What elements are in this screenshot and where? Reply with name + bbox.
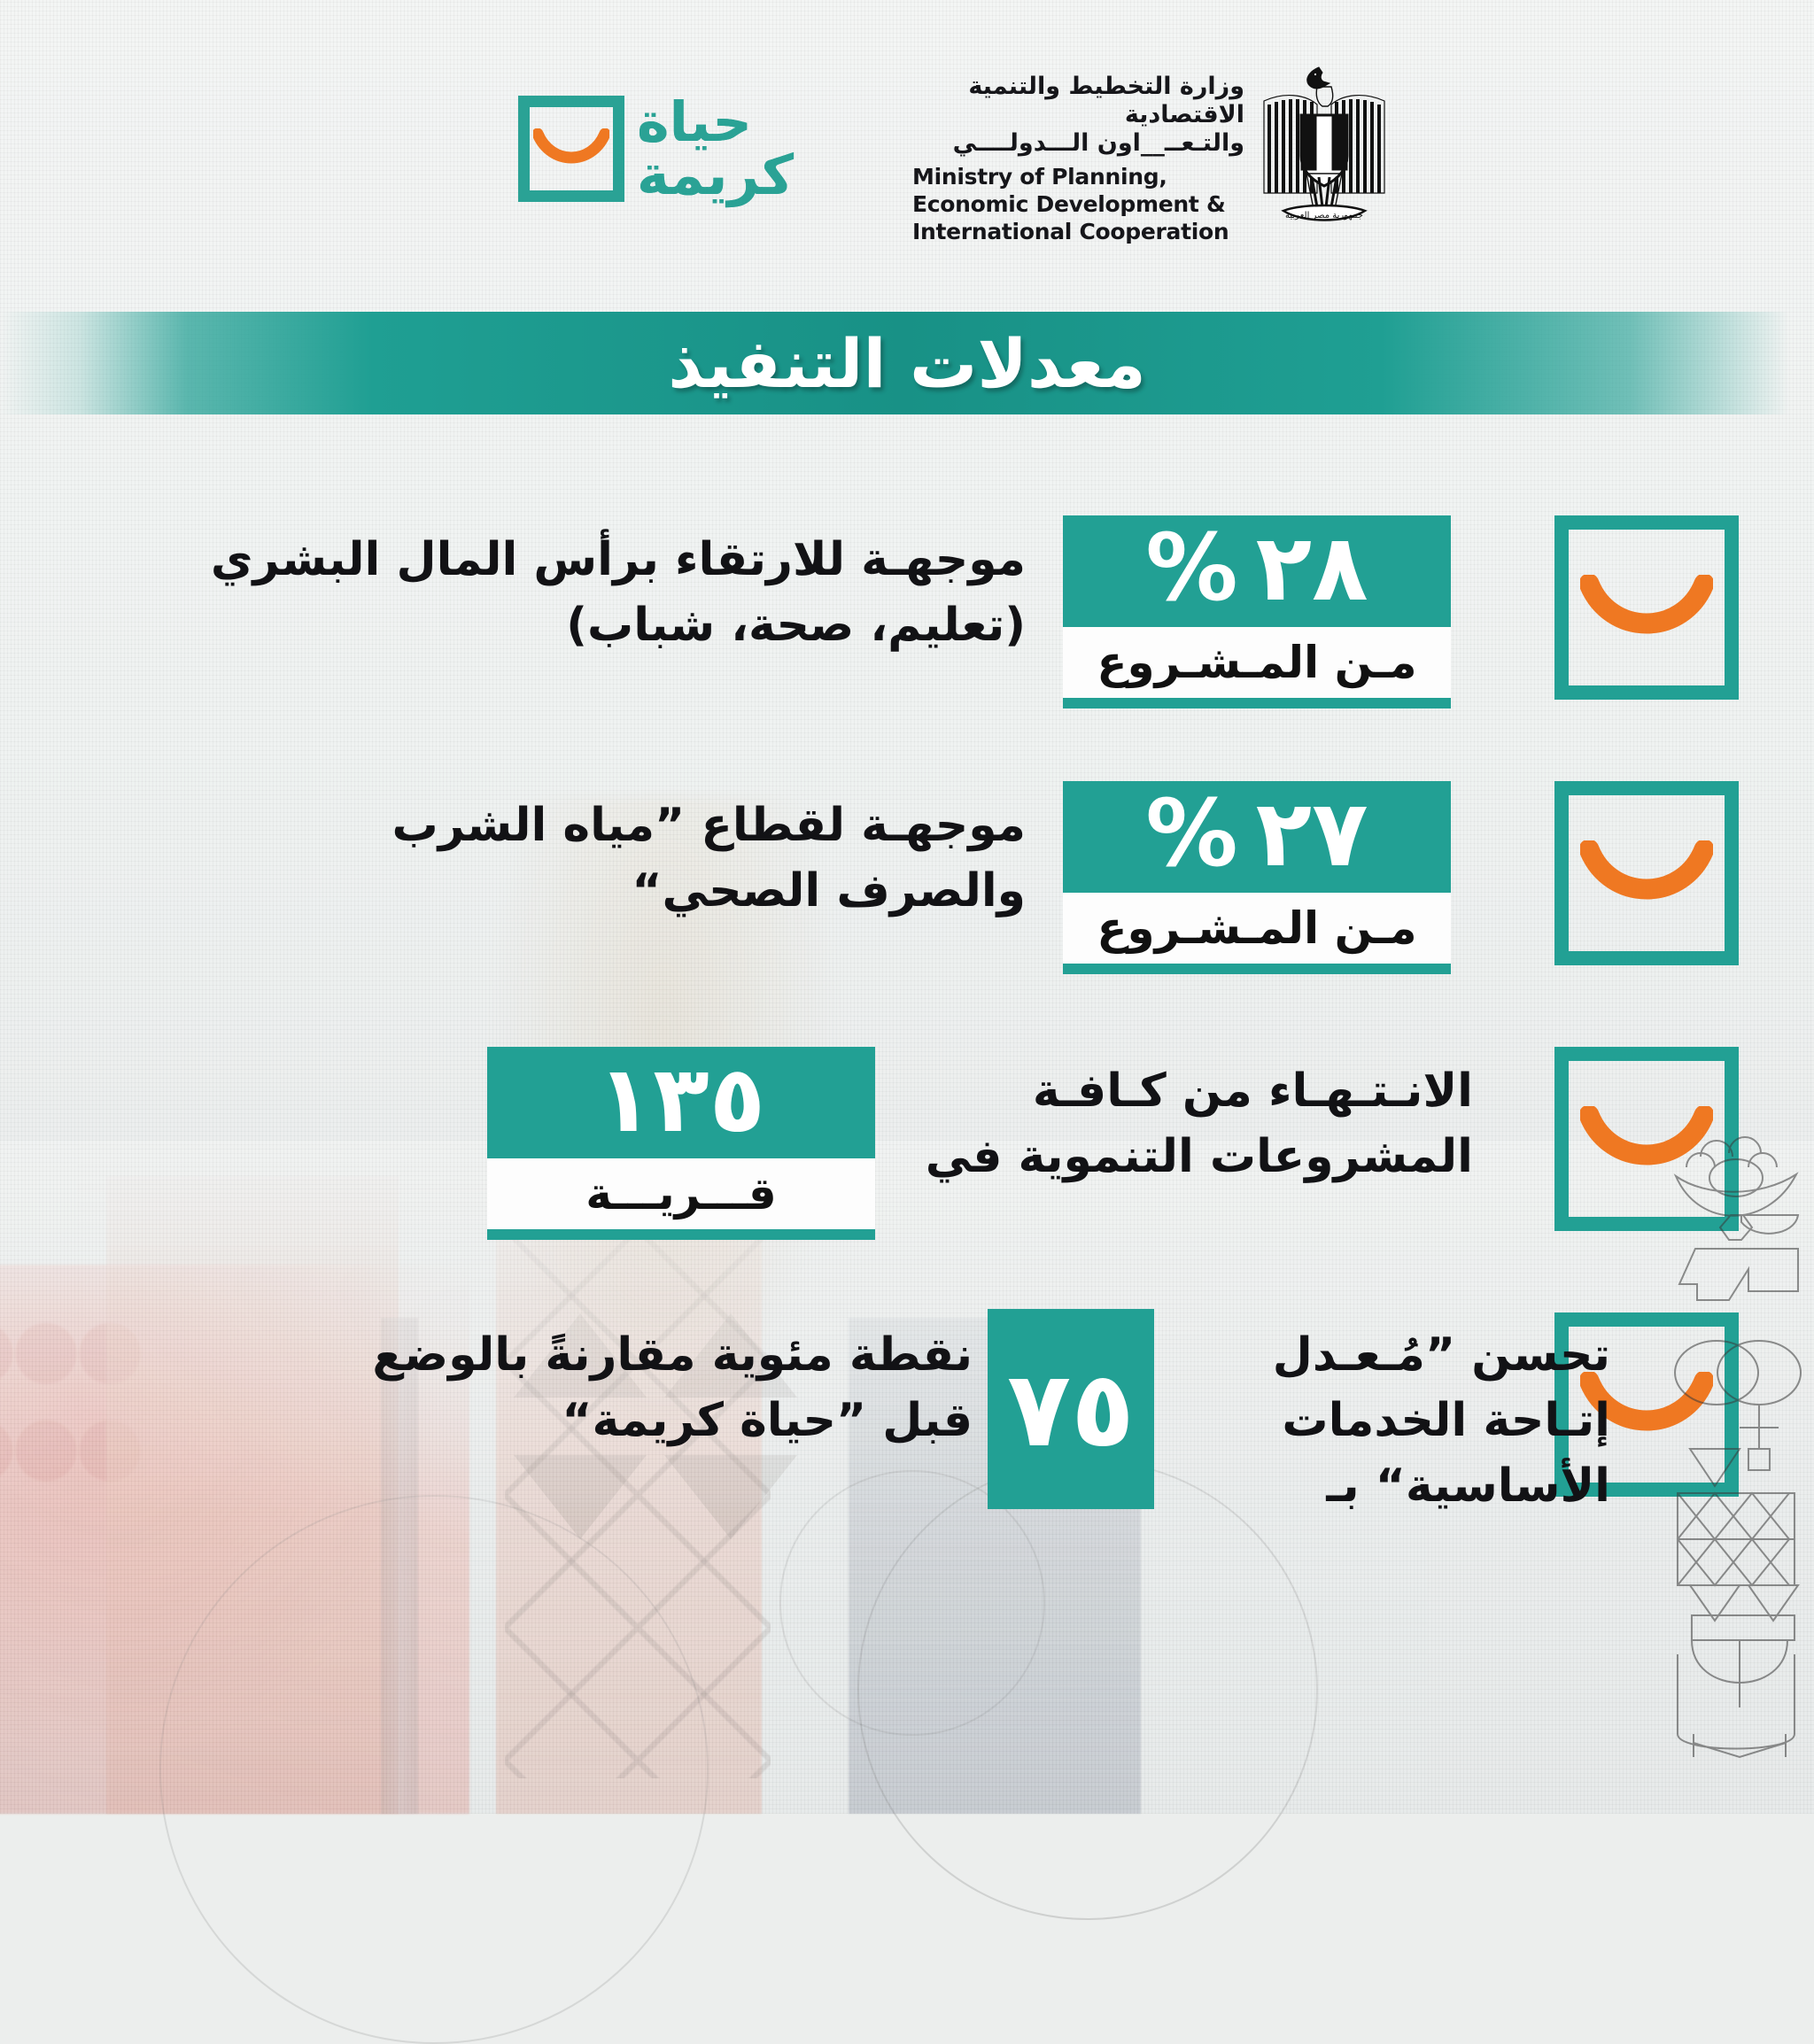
ministry-english-name: Ministry of Planning, Economic Developme… [912,163,1244,246]
smile-square-icon [1554,515,1739,700]
stat-description-right: تحسن ”مُـعـدل إتـاحة الخدمات الأساسية“ ب… [1150,1323,1610,1519]
smile-square-icon [1554,781,1739,965]
stat-description-left: نقطة مئوية مقارنةً بالوضع قبل ”حياة كريم… [361,1323,973,1454]
stat-row: ٧٥ تحسن ”مُـعـدل إتـاحة الخدمات الأساسية… [0,1293,1814,1559]
stat-badge-label: مـن المـشـروع [1063,627,1451,698]
stat-unit: % [1145,787,1239,879]
ministry-name-block: وزارة التخطيط والتنمية الاقتصادية والتـع… [912,73,1244,245]
stat-badge-value-area: ٢٧ % [1063,781,1451,893]
logo-line-2: كريمة [637,149,794,202]
eagle-of-saladin-emblem: جمهورية مصر العربية [1253,60,1395,233]
stat-badge-value-area: ١٣٥ [487,1047,875,1158]
stat-row: ٢٨ % مـن المـشـروع موجهـة للارتقاء برأس … [0,496,1814,762]
page-title: معدلات التنفيذ [668,324,1146,403]
stat-badge: ٢٨ % مـن المـشـروع [1063,515,1451,708]
stat-description: موجهـة لقطاع ”مياه الشرب والصرف الصحي“ [229,794,1026,925]
stat-value: ٧٥ [1007,1357,1135,1461]
logo-line-1: حياة [637,96,752,149]
stat-unit: % [1145,522,1239,614]
stat-value: ٢٧ [1256,787,1368,879]
page-title-banner: معدلات التنفيذ [0,312,1814,414]
emblem-scroll-text: جمهورية مصر العربية [1285,211,1363,221]
stat-badge-value-area: ٢٨ % [1063,515,1451,627]
stat-description: موجهـة للارتقاء برأس المال البشري (تعليم… [131,528,1026,659]
stat-badge-label: مـن المـشـروع [1063,893,1451,964]
stat-badge: ٢٧ % مـن المـشـروع [1063,781,1451,974]
stat-row: ١٣٥ قـــريـــة الانـتـهـاء من كـافـة الم… [0,1027,1814,1293]
stat-row: ٢٧ % مـن المـشـروع موجهـة لقطاع ”مياه ال… [0,762,1814,1027]
stat-value: ٢٨ [1256,522,1368,614]
smile-square-icon [1554,1047,1739,1231]
hayah-karima-wordmark: حياة كريمة [637,96,794,201]
stats-list: ٢٨ % مـن المـشـروع موجهـة للارتقاء برأس … [0,496,1814,1559]
hayah-karima-logo: حياة كريمة [518,96,794,202]
stat-badge: ١٣٥ قـــريـــة [487,1047,875,1240]
stat-badge-label: قـــريـــة [487,1158,875,1229]
smile-square-icon [518,96,624,202]
stat-description: الانـتـهـاء من كـافـة المشروعات التنموية… [915,1059,1473,1190]
stat-badge-underline [1063,698,1451,708]
ministry-arabic-line-1: وزارة التخطيط والتنمية الاقتصادية [912,73,1244,129]
ministry-arabic-line-2: والتـعــ__اون الـــدولــــي [912,129,1244,158]
header: حياة كريمة وزارة التخطيط والتنمية الاقتص… [0,0,1814,266]
stat-badge: ٧٥ [988,1309,1154,1509]
stat-value: ١٣٥ [597,1053,765,1145]
stat-badge-underline [487,1229,875,1240]
stat-badge-underline [1063,964,1451,974]
infographic-canvas: حياة كريمة وزارة التخطيط والتنمية الاقتص… [0,0,1814,1814]
